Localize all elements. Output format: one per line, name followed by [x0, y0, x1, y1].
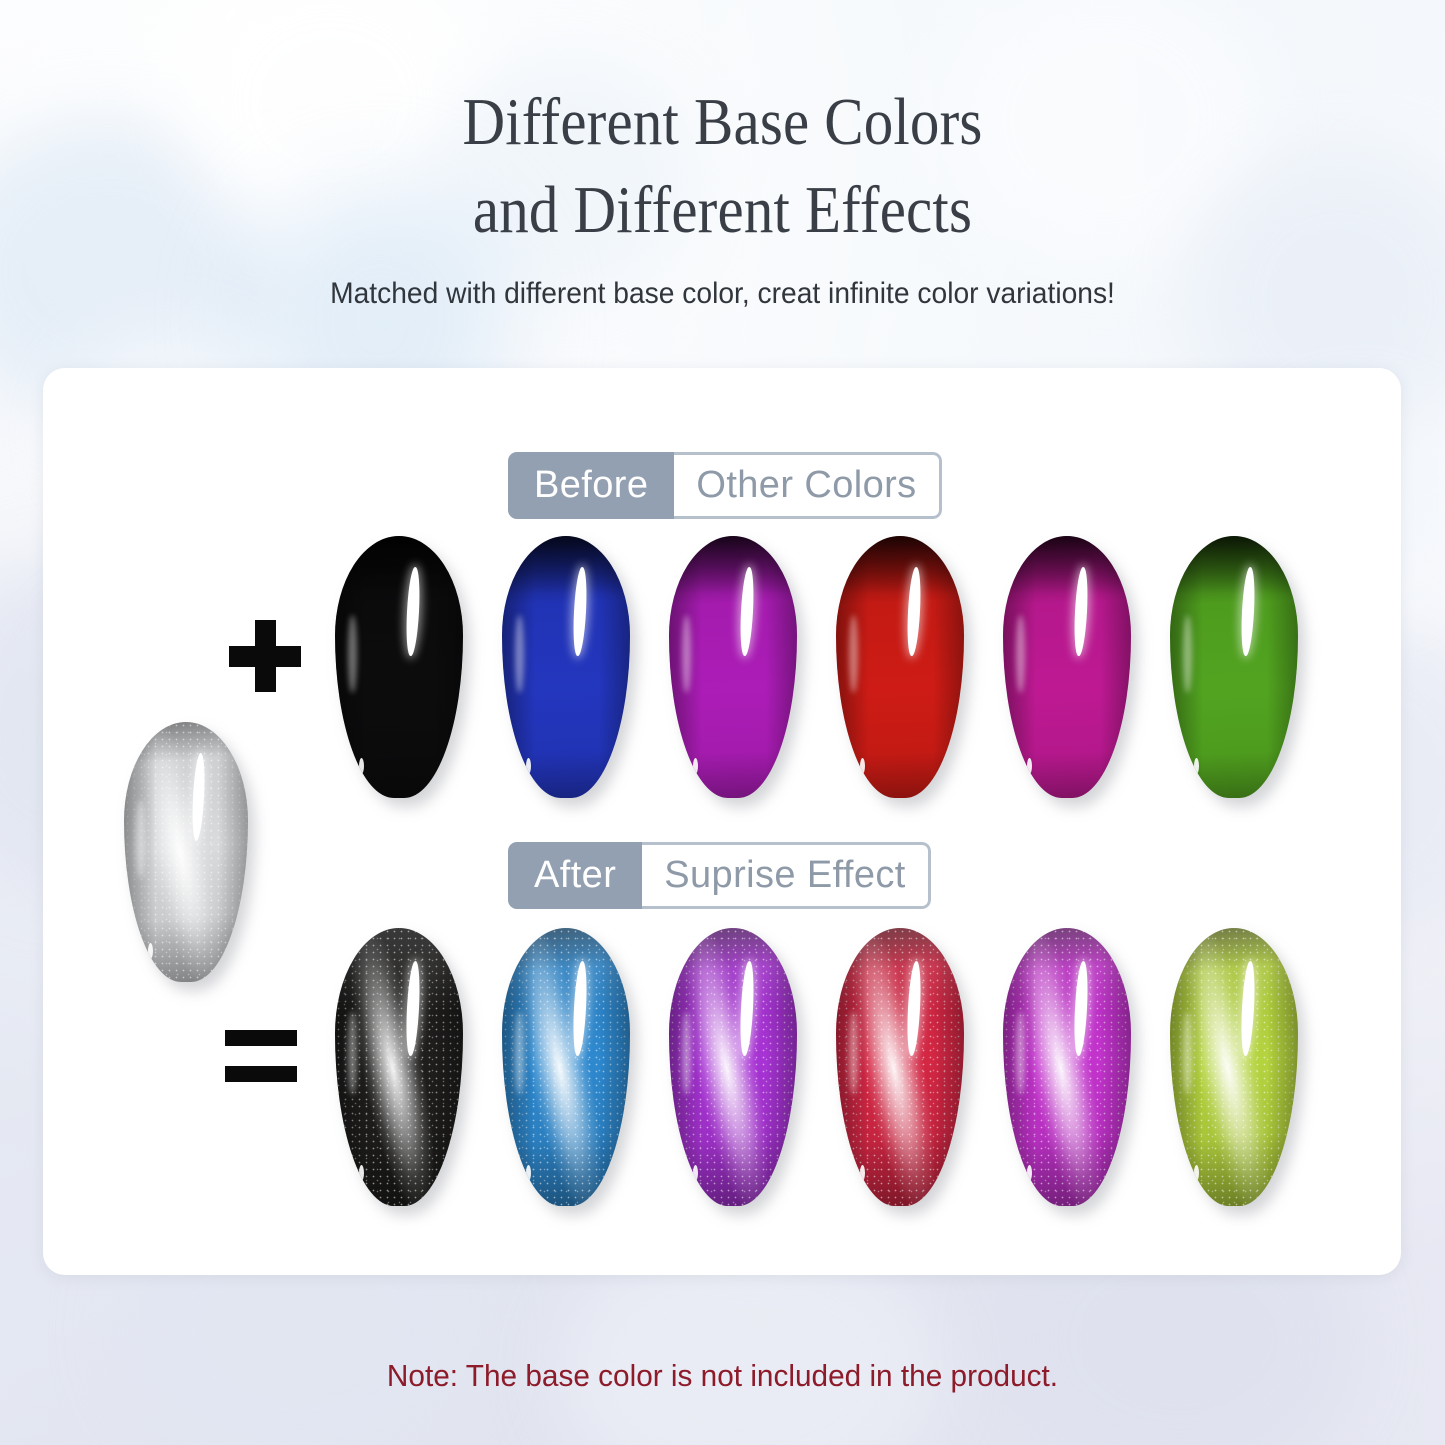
badge-before-right-label: Other Colors [674, 452, 941, 519]
nail-swatch-magenta [1003, 536, 1131, 798]
badge-before: Before Other Colors [508, 452, 942, 519]
badge-after: After Suprise Effect [508, 842, 931, 909]
header-block: Different Base Colors and Different Effe… [0, 78, 1445, 311]
page-title-line2: and Different Effects [87, 166, 1359, 254]
nail-swatch-black-cat-eye [335, 928, 463, 1206]
nail-swatch-red-cat-eye [836, 928, 964, 1206]
nail-swatch-blue [502, 536, 630, 798]
plus-icon [229, 620, 301, 692]
nail-swatch-magenta-cat-eye [1003, 928, 1131, 1206]
product-note: Note: The base color is not included in … [29, 1358, 1416, 1394]
nail-swatch-purple-cat-eye [669, 928, 797, 1206]
badge-before-left-label: Before [508, 452, 674, 519]
nail-swatch-green-cat-eye [1170, 928, 1298, 1206]
nail-swatch-blue-cat-eye [502, 928, 630, 1206]
nail-swatch-red [836, 536, 964, 798]
badge-after-right-label: Suprise Effect [642, 842, 930, 909]
equals-icon [225, 1030, 297, 1082]
nail-swatch-silver-cat-eye-base [124, 722, 248, 982]
nail-swatch-green [1170, 536, 1298, 798]
page-title-line1: Different Base Colors [87, 78, 1359, 166]
page-subtitle: Matched with different base color, creat… [43, 277, 1401, 311]
nail-swatch-purple [669, 536, 797, 798]
badge-after-left-label: After [508, 842, 642, 909]
nail-swatch-black [335, 536, 463, 798]
